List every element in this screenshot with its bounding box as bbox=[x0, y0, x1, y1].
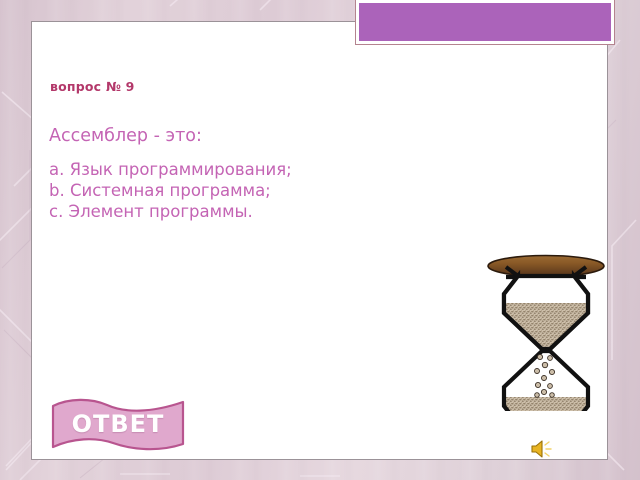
hourglass-top-cap bbox=[488, 256, 604, 277]
answer-option-b: b. Системная программа; bbox=[49, 180, 479, 201]
title-banner bbox=[356, 0, 614, 44]
answer-option-c: c. Элемент программы. bbox=[49, 201, 479, 222]
hourglass-illustration bbox=[480, 231, 612, 411]
speaker-sound-glyph bbox=[529, 437, 555, 461]
slide-content-panel: вопрос № 9 Ассемблер - это: a. Язык прог… bbox=[31, 21, 608, 460]
hourglass-icon bbox=[480, 231, 612, 411]
question-block: Ассемблер - это: a. Язык программировани… bbox=[49, 125, 479, 222]
ribbon-shape bbox=[47, 394, 189, 456]
question-stem-text: Ассемблер - это: bbox=[49, 125, 479, 149]
hourglass-lower-sand bbox=[504, 397, 588, 411]
speaker-icon[interactable] bbox=[529, 437, 555, 461]
answer-reveal-button[interactable]: ОТВЕТ bbox=[47, 394, 189, 456]
answer-option-a: a. Язык программирования; bbox=[49, 159, 479, 180]
presentation-slide: вопрос № 9 Ассемблер - это: a. Язык прог… bbox=[0, 0, 640, 480]
question-number-label: вопрос № 9 bbox=[50, 79, 135, 94]
